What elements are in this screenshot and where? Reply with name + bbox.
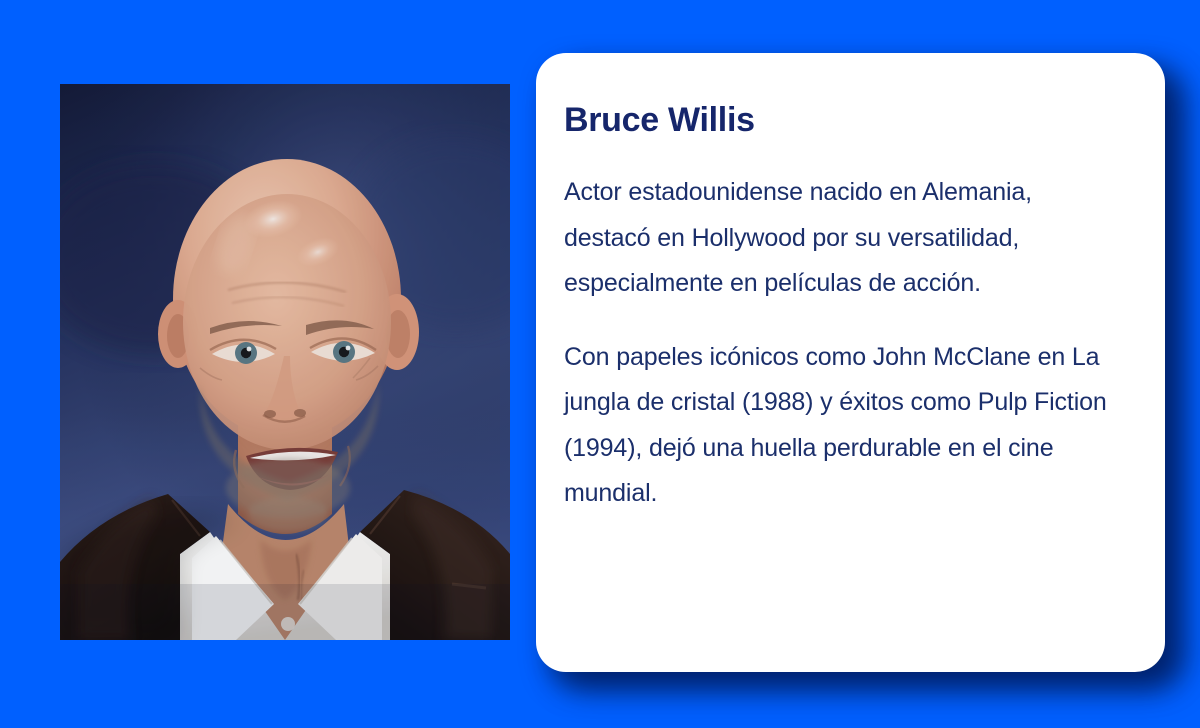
page-title: Bruce Willis bbox=[564, 101, 1125, 140]
portrait-photo bbox=[60, 84, 510, 640]
bio-paragraph-1: Actor estadounidense nacido en Alemania,… bbox=[564, 170, 1125, 307]
portrait-illustration bbox=[60, 84, 510, 640]
info-card: Bruce Willis Actor estadounidense nacido… bbox=[536, 53, 1165, 672]
slide-stage: Bruce Willis Actor estadounidense nacido… bbox=[0, 0, 1200, 728]
bio-paragraph-2: Con papeles icónicos como John McClane e… bbox=[564, 335, 1125, 517]
